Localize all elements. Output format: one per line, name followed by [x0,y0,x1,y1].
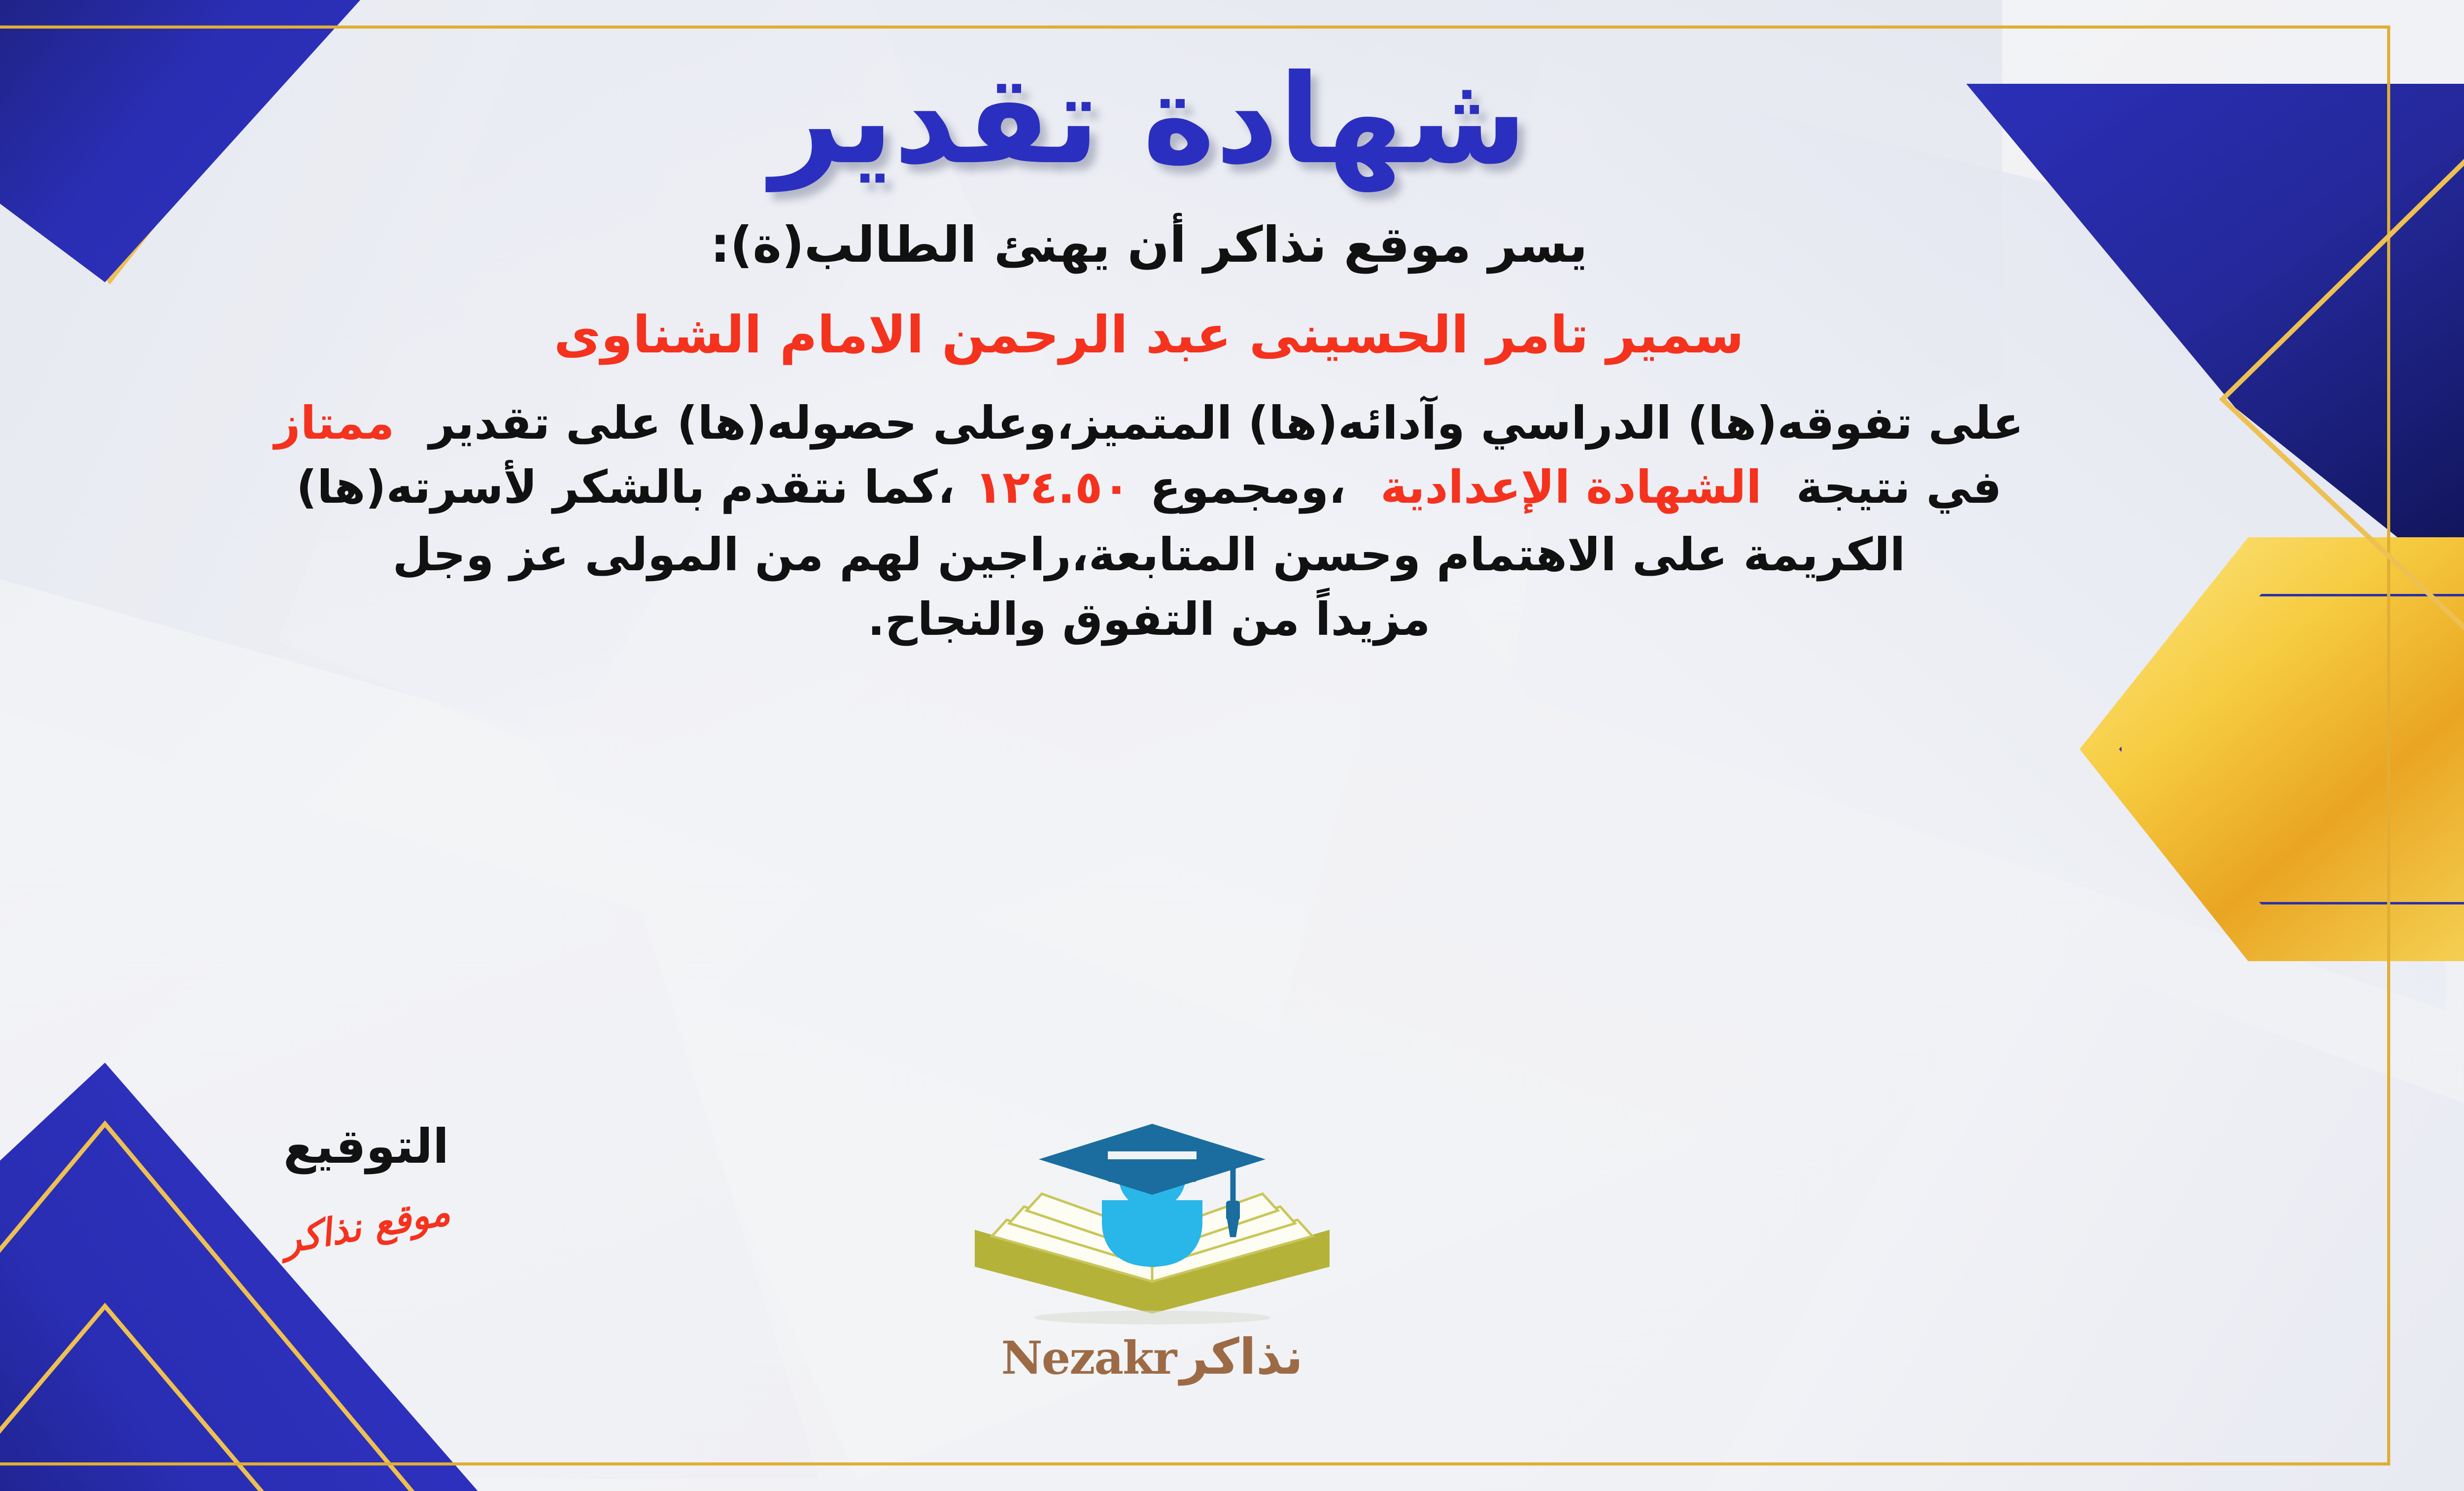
achievement-text: على تفوقه(ها) الدراسي وآدائه(ها) المتميز… [429,397,2023,450]
certificate-page: شهادة تقدير يسر موقع نذاكر أن يهنئ الطال… [0,0,2464,1491]
closing-line: مزيداً من التفوق والنجاح. [60,588,2238,652]
achievement-line: على تفوقه(ها) الدراسي وآدائه(ها) المتميز… [60,391,2238,456]
exam-name: الشهادة الإعدادية [1380,461,1762,514]
student-name: سمير تامر الحسينى عبد الرحمن الامام الشن… [60,299,2238,372]
total-score: ١٢٤.٥٠ [975,461,1130,514]
family-thanks-line: الكريمة على الاهتمام وحسن المتابعة،راجين… [60,523,2238,588]
certificate-content: شهادة تقدير يسر موقع نذاكر أن يهنئ الطال… [0,0,2464,1491]
total-label: ،ومجموع [1150,461,1346,514]
result-prefix: في نتيجة [1796,461,2002,514]
certificate-body: يسر موقع نذاكر أن يهنئ الطالب(ة): سمير ت… [60,210,2238,652]
grade-value: ممتاز [274,397,395,450]
intro-line: يسر موقع نذاكر أن يهنئ الطالب(ة): [60,210,2238,280]
thanks-text: ،كما نتقدم بالشكر لأسرته(ها) [296,461,955,514]
result-line: في نتيجةالشهادة الإعدادية،ومجموع١٢٤.٥٠،ك… [60,455,2238,520]
certificate-title: شهادة تقدير [771,58,1527,181]
